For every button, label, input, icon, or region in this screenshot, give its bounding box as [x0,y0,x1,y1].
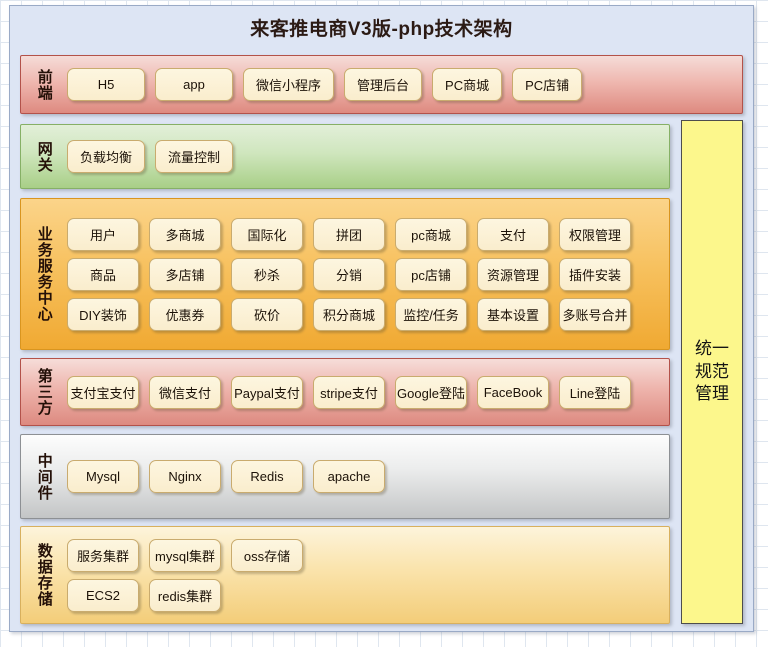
layer-middleware: 中间件 Mysql Nginx Redis apache [20,434,670,519]
node-group-buy[interactable]: 拼团 [313,218,385,251]
layer-storage-body: 服务集群 mysql集群 oss存储 ECS2 redis集群 [67,527,661,623]
node-diy-decor[interactable]: DIY装饰 [67,298,139,331]
node-oss-storage[interactable]: oss存储 [231,539,303,572]
layer-frontend: 前端 H5 app 微信小程序 管理后台 PC商城 PC店铺 [20,55,743,114]
node-apache[interactable]: apache [313,460,385,493]
node-distribution[interactable]: 分销 [313,258,385,291]
node-h5[interactable]: H5 [67,68,145,101]
node-service-cluster[interactable]: 服务集群 [67,539,139,572]
node-points-mall[interactable]: 积分商城 [313,298,385,331]
node-pc-mall[interactable]: PC商城 [432,68,502,101]
node-row: 用户 多商城 国际化 拼团 pc商城 支付 权限管理 [67,218,661,251]
layer-gateway-body: 负载均衡 流量控制 [67,125,661,188]
node-wechat-mini[interactable]: 微信小程序 [243,68,334,101]
layer-business-label: 业务服务中心 [31,199,57,349]
layer-business: 业务服务中心 用户 多商城 国际化 拼团 pc商城 支付 权限管理 商品 多店铺… [20,198,670,350]
node-facebook-login[interactable]: FaceBook [477,376,549,409]
node-redis[interactable]: Redis [231,460,303,493]
node-ecs2[interactable]: ECS2 [67,579,139,612]
node-admin-console[interactable]: 管理后台 [344,68,422,101]
node-user[interactable]: 用户 [67,218,139,251]
layer-business-body: 用户 多商城 国际化 拼团 pc商城 支付 权限管理 商品 多店铺 秒杀 分销 … [67,199,661,349]
page-title: 来客推电商V3版-php技术架构 [10,14,753,41]
node-app[interactable]: app [155,68,233,101]
node-pc-shop[interactable]: PC店铺 [512,68,582,101]
node-multi-mall[interactable]: 多商城 [149,218,221,251]
node-bargain[interactable]: 砍价 [231,298,303,331]
node-row: 负载均衡 流量控制 [67,140,661,173]
node-row: ECS2 redis集群 [67,579,661,612]
layer-gateway: 网关 负载均衡 流量控制 [20,124,670,189]
node-goods[interactable]: 商品 [67,258,139,291]
node-row: 服务集群 mysql集群 oss存储 [67,539,661,572]
layer-storage-label: 数据存储 [31,527,57,623]
layer-frontend-label: 前端 [31,56,57,113]
node-stripe[interactable]: stripe支付 [313,376,385,409]
node-row: Mysql Nginx Redis apache [67,460,661,493]
node-google-login[interactable]: Google登陆 [395,376,467,409]
node-row: H5 app 微信小程序 管理后台 PC商城 PC店铺 [67,68,734,101]
node-pc-mall-svc[interactable]: pc商城 [395,218,467,251]
node-multi-shop[interactable]: 多店铺 [149,258,221,291]
diagram-canvas: 来客推电商V3版-php技术架构 前端 H5 app 微信小程序 管理后台 PC… [9,5,754,632]
layer-middleware-label: 中间件 [31,435,57,518]
layer-storage: 数据存储 服务集群 mysql集群 oss存储 ECS2 redis集群 [20,526,670,624]
layer-middleware-body: Mysql Nginx Redis apache [67,435,661,518]
node-permission[interactable]: 权限管理 [559,218,631,251]
node-basic-settings[interactable]: 基本设置 [477,298,549,331]
node-pc-shop-svc[interactable]: pc店铺 [395,258,467,291]
node-redis-cluster[interactable]: redis集群 [149,579,221,612]
layer-frontend-body: H5 app 微信小程序 管理后台 PC商城 PC店铺 [67,56,734,113]
node-flash-sale[interactable]: 秒杀 [231,258,303,291]
node-row: 商品 多店铺 秒杀 分销 pc店铺 资源管理 插件安装 [67,258,661,291]
node-line-login[interactable]: Line登陆 [559,376,631,409]
sidebar-label: 统一规范管理 [692,338,732,405]
node-nginx[interactable]: Nginx [149,460,221,493]
node-monitor-task[interactable]: 监控/任务 [395,298,467,331]
node-load-balancer[interactable]: 负载均衡 [67,140,145,173]
node-i18n[interactable]: 国际化 [231,218,303,251]
node-multi-account-merge[interactable]: 多账号合并 [559,298,631,331]
layer-thirdparty: 第三方 支付宝支付 微信支付 Paypal支付 stripe支付 Google登… [20,358,670,426]
node-resource-mgmt[interactable]: 资源管理 [477,258,549,291]
layer-thirdparty-label: 第三方 [31,359,57,425]
layer-thirdparty-body: 支付宝支付 微信支付 Paypal支付 stripe支付 Google登陆 Fa… [67,359,661,425]
sidebar-unified-governance: 统一规范管理 [681,120,743,624]
node-paypal[interactable]: Paypal支付 [231,376,303,409]
node-alipay[interactable]: 支付宝支付 [67,376,139,409]
node-traffic-control[interactable]: 流量控制 [155,140,233,173]
node-payment[interactable]: 支付 [477,218,549,251]
node-mysql-cluster[interactable]: mysql集群 [149,539,221,572]
node-mysql[interactable]: Mysql [67,460,139,493]
node-row: DIY装饰 优惠券 砍价 积分商城 监控/任务 基本设置 多账号合并 [67,298,661,331]
node-row: 支付宝支付 微信支付 Paypal支付 stripe支付 Google登陆 Fa… [67,376,661,409]
layer-gateway-label: 网关 [31,125,57,188]
node-wechat-pay[interactable]: 微信支付 [149,376,221,409]
node-plugin-install[interactable]: 插件安装 [559,258,631,291]
node-coupon[interactable]: 优惠券 [149,298,221,331]
